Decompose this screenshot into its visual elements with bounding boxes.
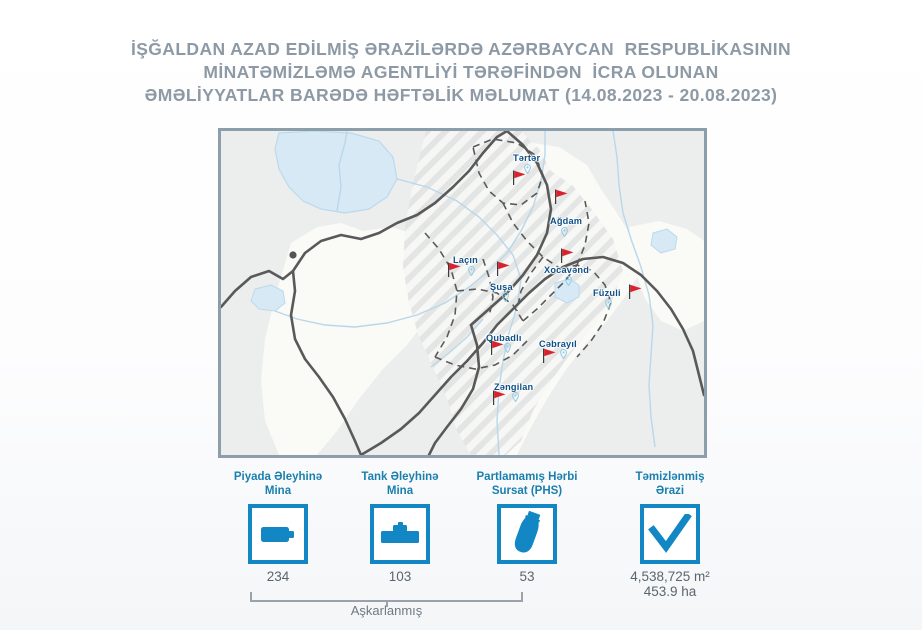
location-pin-icon xyxy=(605,299,612,309)
page-title: İŞĞALDAN AZAD EDİLMİŞ ƏRAZİLƏRDƏ AZƏRBAY… xyxy=(0,38,922,107)
location-pin-icon xyxy=(512,392,519,402)
title-line-2: MİNATƏMİZLƏMƏ AGENTLİYİ TƏRƏFİNDƏN İCRA … xyxy=(0,61,922,84)
flag-marker-icon xyxy=(553,188,570,205)
flag-marker-icon xyxy=(511,169,528,186)
legend-item-cleared-area: Təmizlənmiş Ərazi 4,538,725 m² 453.9 ha xyxy=(590,470,750,599)
legend-icon-box xyxy=(248,504,308,564)
infographic-page: İŞĞALDAN AZAD EDİLMİŞ ƏRAZİLƏRDƏ AZƏRBAY… xyxy=(0,0,922,630)
flag-marker-icon xyxy=(491,389,508,406)
city-label-agdam: Ağdam xyxy=(550,216,582,226)
legend-label: Təmizlənmiş Ərazi xyxy=(590,470,750,498)
title-line-1: İŞĞALDAN AZAD EDİLMİŞ ƏRAZİLƏRDƏ AZƏRBAY… xyxy=(0,38,922,61)
flag-marker-icon xyxy=(627,283,644,300)
city-label-fuzuli: Füzuli xyxy=(593,288,621,298)
map-frame: Tərtər Ağdam Laçın xyxy=(218,128,707,458)
city-label-tertar: Tərtər xyxy=(513,153,540,163)
legend-item-unexploded-ordnance: Partlamamış Hərbi Sursat (PHS) 53 xyxy=(452,470,602,584)
anti-personnel-mine-icon xyxy=(258,520,298,548)
legend-icon-box xyxy=(370,504,430,564)
legend-value: 234 xyxy=(208,569,348,584)
legend-item-anti-tank-mine: Tank Əleyhinə Mina 103 xyxy=(330,470,470,584)
legend-icon-box xyxy=(497,504,557,564)
discovered-bracket-label: Aşkarlanmış xyxy=(250,603,523,618)
unexploded-ordnance-icon xyxy=(507,511,547,557)
legend-label: Tank Əleyhinə Mina xyxy=(330,470,470,498)
location-pin-icon xyxy=(502,292,509,302)
city-label-xocavend: Xocavənd xyxy=(544,265,589,275)
legend-value: 103 xyxy=(330,569,470,584)
legend-value: 53 xyxy=(452,569,602,584)
map-canvas: Tərtər Ağdam Laçın xyxy=(221,131,704,455)
title-line-3: ƏMƏLİYYATLAR BARƏDƏ HƏFTƏLİK MƏLUMAT (14… xyxy=(0,84,922,107)
legend-value: 4,538,725 m² 453.9 ha xyxy=(590,569,750,599)
legend-icon-box xyxy=(640,504,700,564)
location-pin-icon xyxy=(560,349,567,359)
flag-marker-icon xyxy=(541,347,558,364)
location-pin-icon xyxy=(565,276,572,286)
city-label-susa: Şuşa xyxy=(490,282,513,292)
flag-marker-icon xyxy=(446,261,463,278)
legend-item-anti-personnel-mine: Piyada Əleyhinə Mina 234 xyxy=(208,470,348,584)
anti-tank-mine-icon xyxy=(379,520,421,548)
discovered-bracket xyxy=(250,592,523,602)
legend-label: Partlamamış Hərbi Sursat (PHS) xyxy=(452,470,602,498)
checkmark-icon xyxy=(648,514,692,554)
location-pin-icon xyxy=(561,227,568,237)
location-pin-icon xyxy=(468,266,475,276)
legend-label: Piyada Əleyhinə Mina xyxy=(208,470,348,498)
flag-marker-icon xyxy=(489,339,506,356)
flag-marker-icon xyxy=(559,247,576,264)
flag-marker-icon xyxy=(495,260,512,277)
